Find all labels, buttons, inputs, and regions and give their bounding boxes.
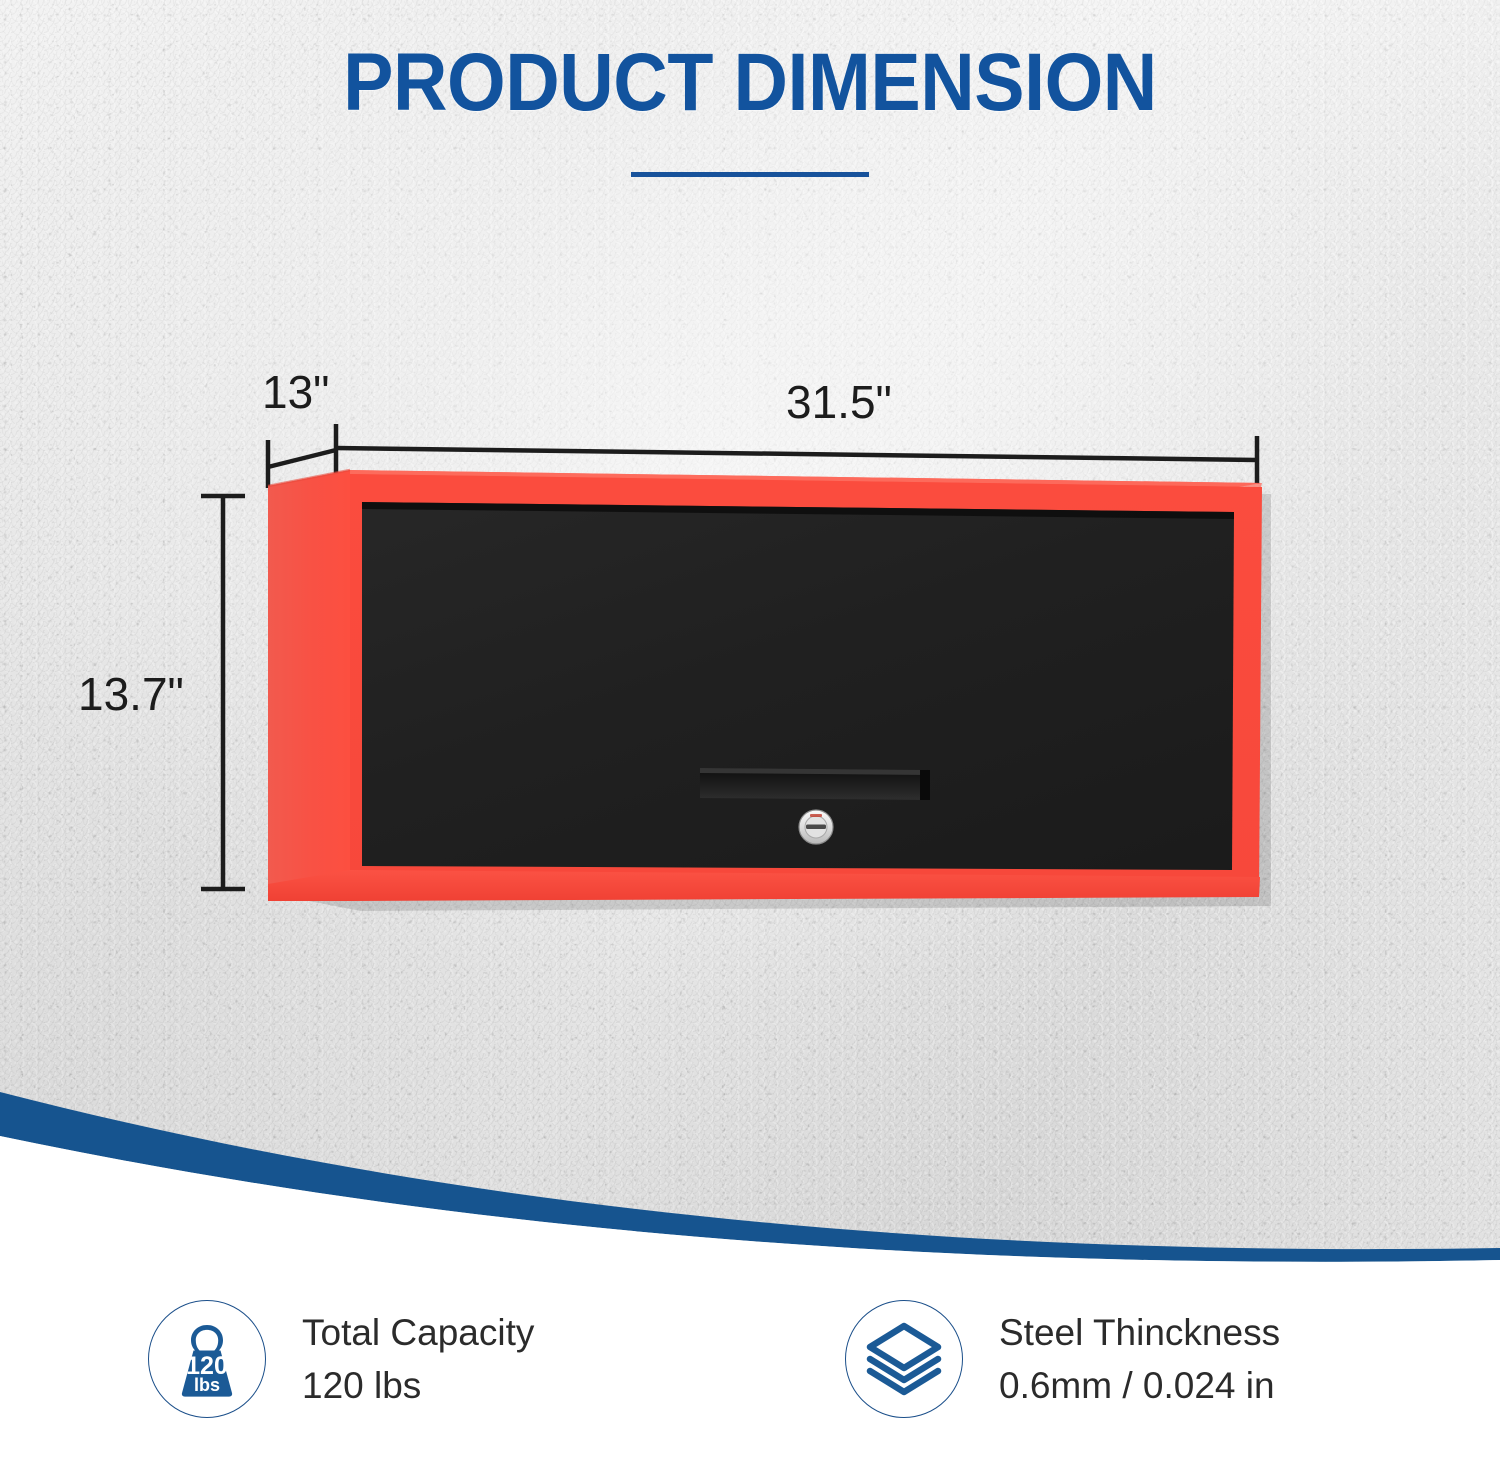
cabinet-body (268, 470, 1271, 911)
thickness-text-block: Steel Thinckness 0.6mm / 0.024 in (999, 1309, 1280, 1410)
lock-keyhole-slot (806, 825, 826, 830)
cabinet-illustration (0, 0, 1500, 1060)
lock-brand-mark (810, 814, 822, 817)
weight-handle (191, 1325, 223, 1352)
infographic-stage: PRODUCT DIMENSION (0, 0, 1500, 1472)
width-dimension-label: 31.5" (786, 375, 892, 429)
weight-icon: 120 lbs (165, 1317, 249, 1401)
width-dimension-line (336, 448, 1257, 460)
feature-footer: 120 lbs Total Capacity 120 lbs (0, 1270, 1500, 1472)
height-dimension-lines (201, 496, 245, 889)
cabinet-door-panel (362, 502, 1234, 870)
capacity-title: Total Capacity (302, 1309, 534, 1356)
door-handle-slot (700, 768, 930, 800)
weight-icon-unit: lbs (194, 1375, 220, 1395)
capacity-text-block: Total Capacity 120 lbs (302, 1309, 534, 1410)
thickness-value: 0.6mm / 0.024 in (999, 1362, 1280, 1409)
depth-dimension-line (268, 450, 336, 467)
feature-steel-thickness: Steel Thinckness 0.6mm / 0.024 in (845, 1300, 1280, 1418)
feature-total-capacity: 120 lbs Total Capacity 120 lbs (148, 1300, 534, 1418)
capacity-value: 120 lbs (302, 1362, 534, 1409)
door-lock[interactable] (799, 810, 833, 844)
depth-dimension-label: 13" (262, 365, 330, 419)
capacity-icon-circle: 120 lbs (148, 1300, 266, 1418)
handle-slot-right-edge (920, 770, 930, 800)
layers-icon (861, 1316, 947, 1402)
thickness-title: Steel Thinckness (999, 1309, 1280, 1356)
height-dimension-label: 13.7" (78, 667, 184, 721)
thickness-icon-circle (845, 1300, 963, 1418)
cabinet-left-side-face (268, 470, 350, 900)
